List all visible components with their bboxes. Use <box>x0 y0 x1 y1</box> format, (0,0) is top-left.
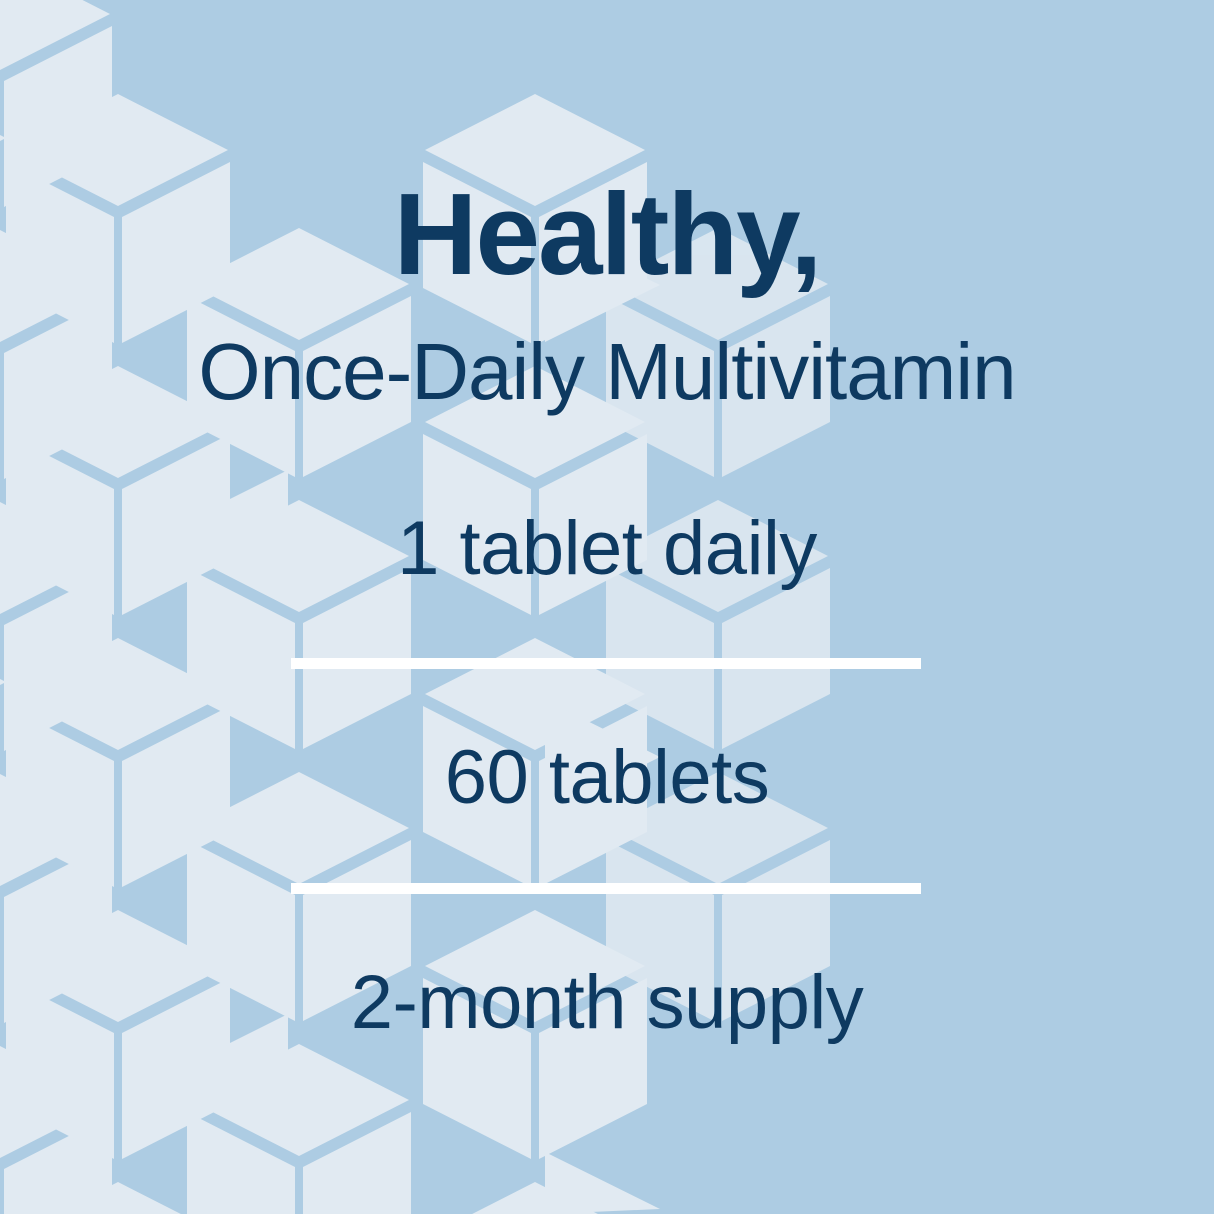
callout-content: Healthy, Once-Daily Multivitamin 1 table… <box>0 0 1214 1214</box>
divider-above-supply <box>291 883 921 894</box>
page-subtitle: Once-Daily Multivitamin <box>0 332 1214 412</box>
fact-supply-duration: 2-month supply <box>0 965 1214 1041</box>
fact-count: 60 tablets <box>0 740 1214 816</box>
product-callout-graphic: Healthy, Once-Daily Multivitamin 1 table… <box>0 0 1214 1214</box>
divider-above-count <box>291 658 921 669</box>
page-title: Healthy, <box>0 176 1214 292</box>
fact-dosage: 1 tablet daily <box>0 511 1214 587</box>
